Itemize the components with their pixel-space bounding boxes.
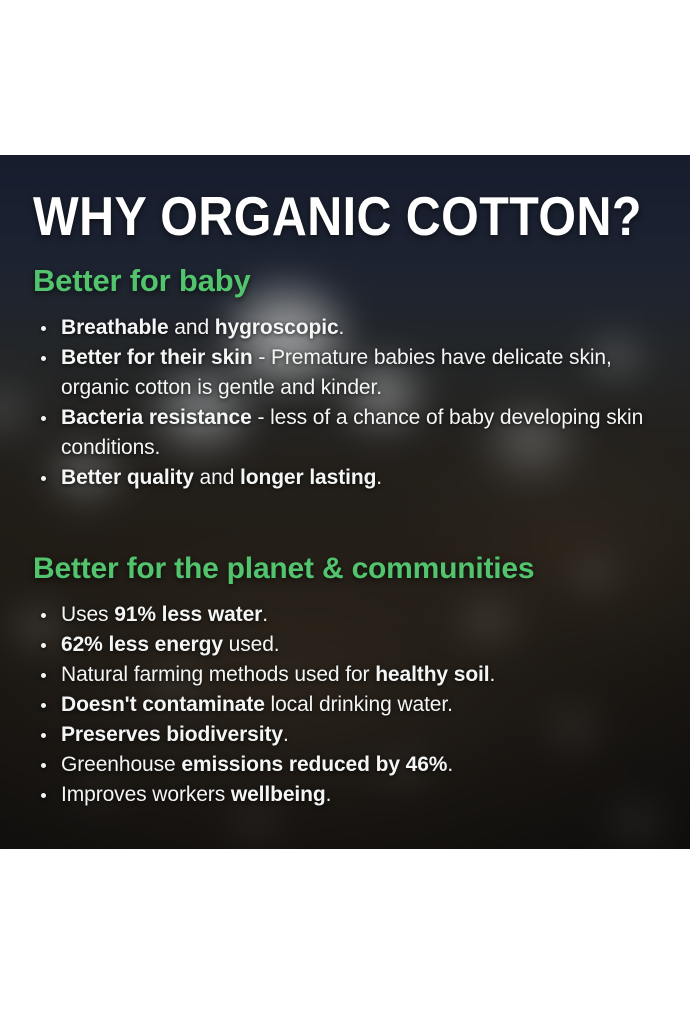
list-item: Improves workers wellbeing. (33, 780, 666, 810)
section-heading-better-for-planet: Better for the planet & communities (33, 551, 666, 587)
list-item-emphasis: longer lasting (240, 466, 376, 489)
list-item: Doesn't contaminate local drinking water… (33, 690, 666, 720)
poster-panel: WHY ORGANIC COTTON? Better for baby Brea… (0, 155, 690, 849)
list-item-emphasis: Doesn't contaminate (61, 693, 265, 716)
list-item-emphasis: Bacteria resistance (61, 406, 252, 429)
list-item: Greenhouse emissions reduced by 46%. (33, 750, 666, 780)
list-item: Uses 91% less water. (33, 600, 666, 630)
list-item: Preserves biodiversity. (33, 720, 666, 750)
list-item-emphasis: healthy soil (375, 663, 489, 686)
list-item-emphasis: 62% less energy (61, 633, 223, 656)
list-item-text: Greenhouse (61, 753, 181, 776)
list-item-text: used. (223, 633, 280, 656)
page-title: WHY ORGANIC COTTON? (33, 155, 590, 245)
list-item-text: . (283, 723, 289, 746)
page-bottom-margin (0, 849, 690, 1024)
section-better-for-baby: Better for baby Breathable and hygroscop… (33, 245, 666, 493)
list-item-text: . (326, 783, 332, 806)
list-item-emphasis: Preserves biodiversity (61, 723, 283, 746)
list-item-text: . (262, 603, 268, 626)
list-item: Breathable and hygroscopic. (33, 313, 666, 343)
list-item: Better quality and longer lasting. (33, 463, 666, 493)
list-item-text: . (490, 663, 496, 686)
list-item-emphasis: 91% less water (114, 603, 262, 626)
list-item-emphasis: hygroscopic (215, 316, 339, 339)
bullet-list-better-for-planet: Uses 91% less water.62% less energy used… (33, 587, 666, 810)
section-heading-better-for-baby: Better for baby (33, 245, 666, 299)
list-item: Better for their skin - Premature babies… (33, 343, 666, 403)
list-item-emphasis: wellbeing (231, 783, 326, 806)
list-item-emphasis: emissions reduced by 46% (181, 753, 447, 776)
list-item-text: and (169, 316, 215, 339)
list-item-text: local drinking water. (265, 693, 453, 716)
list-item-emphasis: Better quality (61, 466, 194, 489)
list-item-text: Improves workers (61, 783, 231, 806)
section-better-for-planet: Better for the planet & communities Uses… (33, 493, 666, 810)
list-item-emphasis: Breathable (61, 316, 169, 339)
list-item: Natural farming methods used for healthy… (33, 660, 666, 690)
list-item-text: Uses (61, 603, 114, 626)
list-item-text: and (194, 466, 240, 489)
list-item-text: . (376, 466, 382, 489)
poster-content: WHY ORGANIC COTTON? Better for baby Brea… (0, 155, 690, 849)
list-item-text: . (447, 753, 453, 776)
list-item: 62% less energy used. (33, 630, 666, 660)
page-top-margin (0, 0, 690, 155)
bullet-list-better-for-baby: Breathable and hygroscopic.Better for th… (33, 299, 666, 493)
list-item: Bacteria resistance - less of a chance o… (33, 403, 666, 463)
list-item-emphasis: Better for their skin (61, 346, 253, 369)
list-item-text: Natural farming methods used for (61, 663, 375, 686)
infographic-poster: WHY ORGANIC COTTON? Better for baby Brea… (0, 0, 690, 1024)
list-item-text: . (339, 316, 345, 339)
